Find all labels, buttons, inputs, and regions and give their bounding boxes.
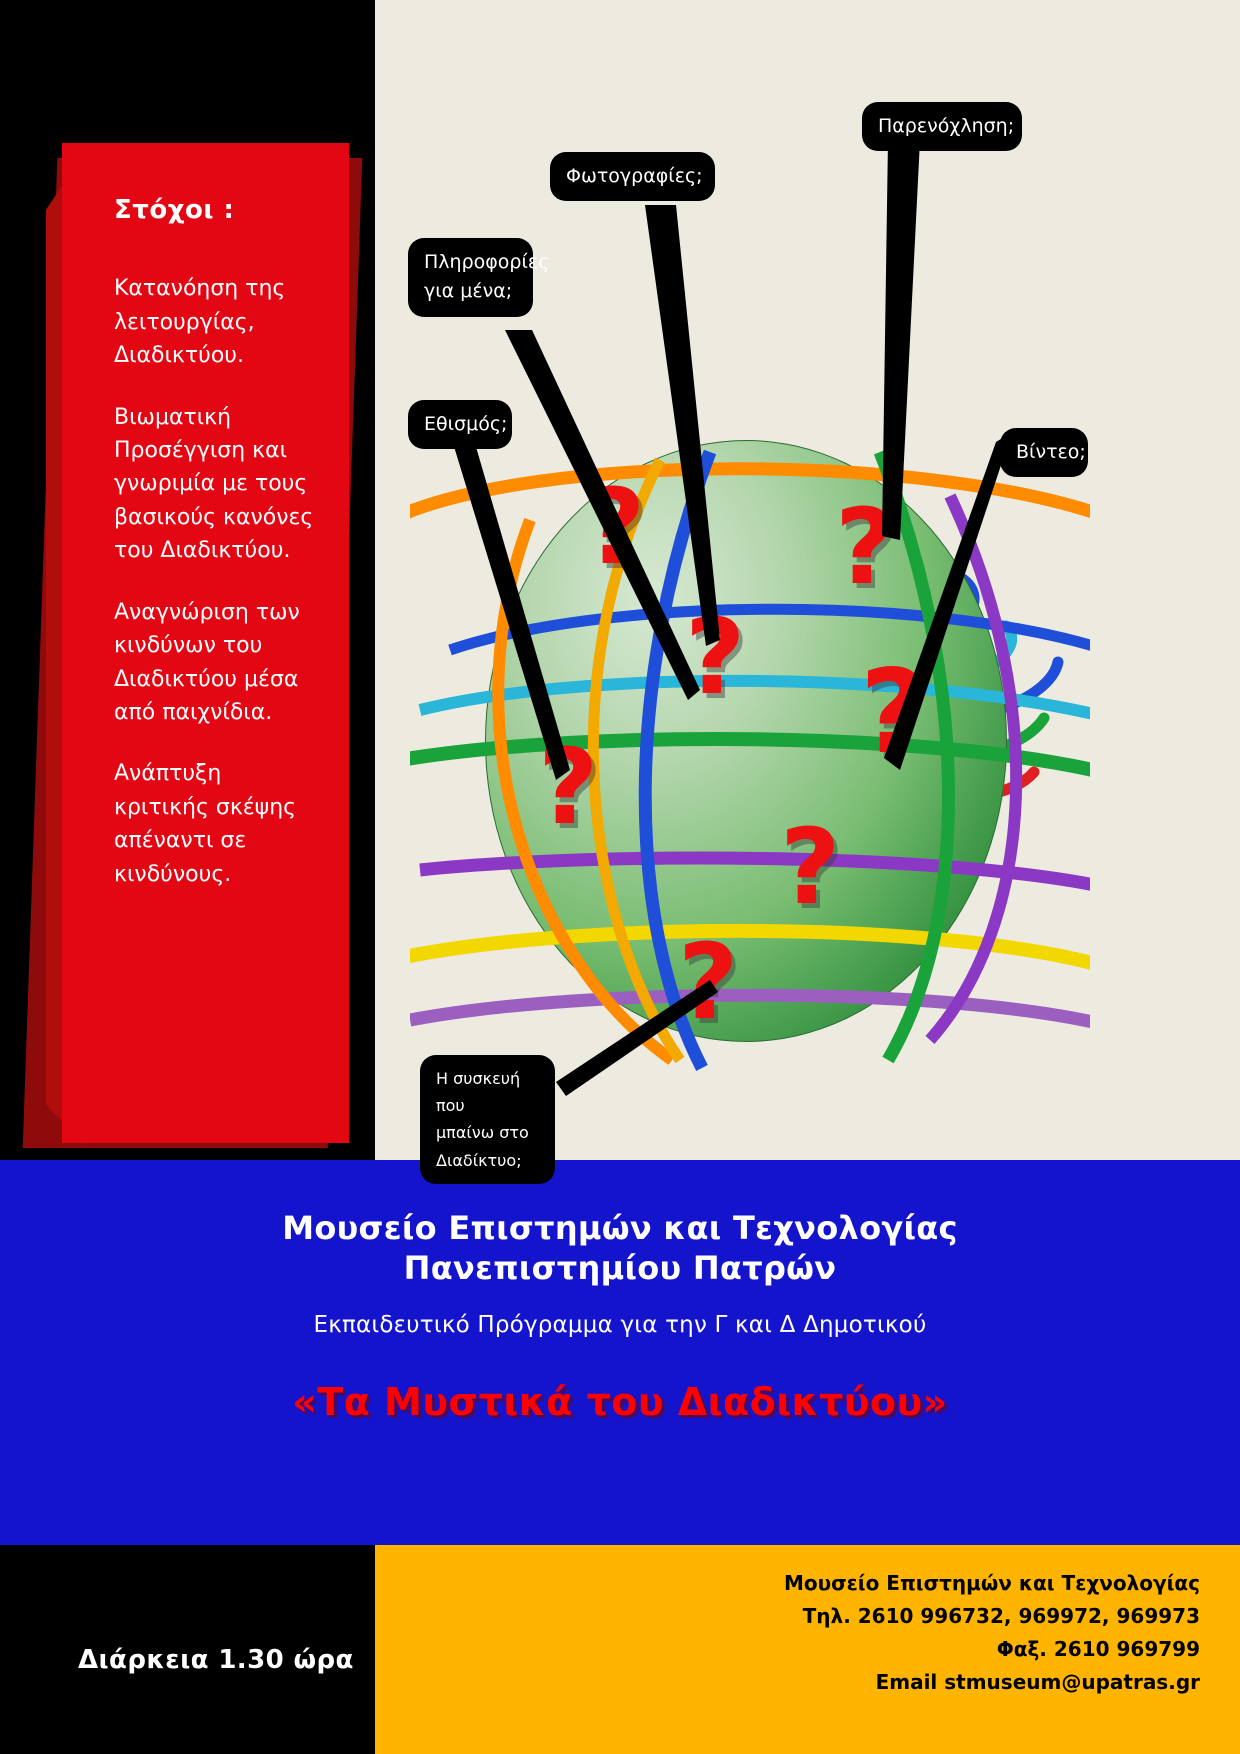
duration-label: Διάρκεια 1.30 ώρα xyxy=(78,1645,354,1675)
contact-email: Email stmuseum@upatras.gr xyxy=(375,1666,1200,1699)
bubble-plirofories[interactable]: Πληροφορίες για μένα; xyxy=(408,238,533,317)
museum-name-line2: Πανεπιστημίου Πατρών xyxy=(0,1248,1240,1288)
bubble-fotografies[interactable]: Φωτογραφίες; xyxy=(550,152,715,201)
bubble-device[interactable]: Η συσκευή που μπαίνω στο Διαδίκτυο; xyxy=(420,1055,555,1184)
museum-name-line1: Μουσείο Επιστημών και Τεχνολογίας xyxy=(0,1208,1240,1248)
contact-museum-name: Μουσείο Επιστημών και Τεχνολογίας xyxy=(375,1567,1200,1600)
bottom-strip: Διάρκεια 1.30 ώρα Μουσείο Επιστημών και … xyxy=(0,1545,1240,1754)
contact-phone: Τηλ. 2610 996732, 969972, 969973 xyxy=(375,1600,1200,1633)
poster-root: ? ? ? ? ? ? ? xyxy=(0,0,1240,1754)
program-subtitle: Εκπαιδευτικό Πρόγραμμα για την Γ και Δ Δ… xyxy=(0,1312,1240,1338)
program-title: «Τα Μυστικά του Διαδικτύου» xyxy=(0,1380,1240,1424)
poster-stage: ? ? ? ? ? ? ? xyxy=(0,0,1240,1160)
bubble-ethismos[interactable]: Εθισμός; xyxy=(408,400,512,449)
contact-fax: Φαξ. 2610 969799 xyxy=(375,1633,1200,1666)
bubble-video[interactable]: Βίντεο; xyxy=(1000,428,1088,477)
bubble-parenochlisi[interactable]: Παρενόχληση; xyxy=(862,102,1022,151)
blue-banner: Μουσείο Επιστημών και Τεχνολογίας Πανεπι… xyxy=(0,1160,1240,1545)
contact-box: Μουσείο Επιστημών και Τεχνολογίας Τηλ. 2… xyxy=(375,1545,1240,1754)
